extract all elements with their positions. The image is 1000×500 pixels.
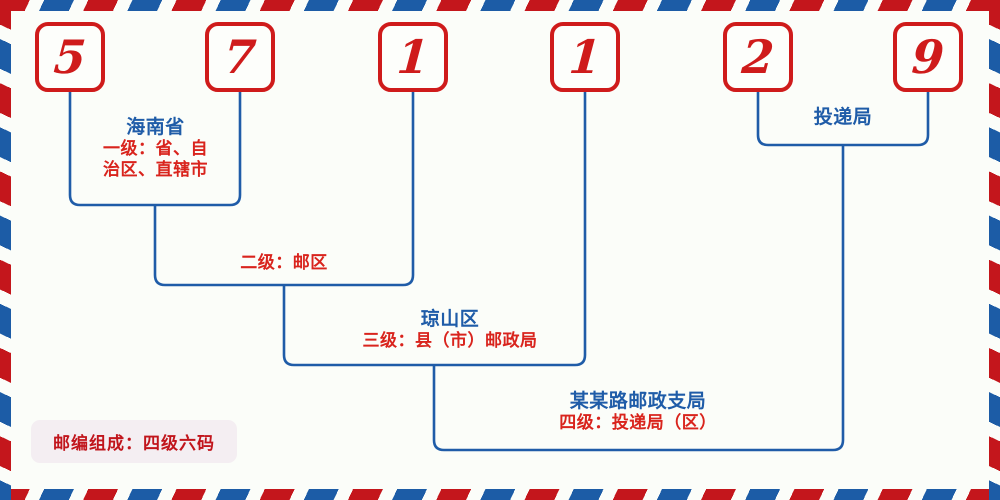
label-level-1-desc-line2: 治区、直辖市 <box>78 160 233 181</box>
label-level-2-desc-line1: 二级：邮区 <box>184 253 384 274</box>
postcode-digit-2: 7 <box>205 22 275 92</box>
label-level-3: 琼山区 三级：县（市）邮政局 <box>300 308 600 352</box>
label-level-1-desc-line1: 一级：省、自 <box>78 139 233 160</box>
label-delivery-bureau: 投递局 <box>768 106 918 129</box>
digit-glyph: 9 <box>895 26 961 88</box>
airmail-border-top <box>0 0 1000 11</box>
label-level-4-name: 某某路邮政支局 <box>488 390 788 413</box>
label-level-3-name: 琼山区 <box>300 308 600 331</box>
postcode-digit-4: 1 <box>550 22 620 92</box>
label-level-2: 二级：邮区 <box>184 253 384 274</box>
postcode-composition-badge: 邮编组成：四级六码 <box>31 420 237 463</box>
wire-level-3-stem <box>434 365 444 450</box>
postcode-digit-3: 1 <box>378 22 448 92</box>
label-level-1-name: 海南省 <box>78 116 233 139</box>
wire-level-2-stem <box>284 285 294 365</box>
label-level-4: 某某路邮政支局 四级：投递局（区） <box>488 390 788 434</box>
digit-glyph: 2 <box>725 26 791 88</box>
airmail-border-left <box>0 0 11 500</box>
label-delivery-bureau-name: 投递局 <box>768 106 918 129</box>
airmail-border-bottom <box>0 489 1000 500</box>
postcode-digit-5: 2 <box>723 22 793 92</box>
postcode-digit-6: 9 <box>893 22 963 92</box>
wire-delivery-bureau-stem <box>833 145 843 450</box>
wire-level-1-stem <box>155 205 165 285</box>
digit-glyph: 1 <box>552 26 618 88</box>
digit-glyph: 5 <box>37 26 103 88</box>
label-level-1: 海南省 一级：省、自 治区、直辖市 <box>78 116 233 181</box>
digit-glyph: 7 <box>207 26 273 88</box>
postcode-digit-1: 5 <box>35 22 105 92</box>
digit-glyph: 1 <box>380 26 446 88</box>
airmail-border-right <box>989 0 1000 500</box>
label-level-3-desc-line1: 三级：县（市）邮政局 <box>300 331 600 352</box>
postcode-diagram: 5 7 1 1 2 9 海南省 一级：省、自 治区、直辖市 二级：邮区 琼山区 … <box>0 0 1000 500</box>
label-level-4-desc-line1: 四级：投递局（区） <box>488 413 788 434</box>
